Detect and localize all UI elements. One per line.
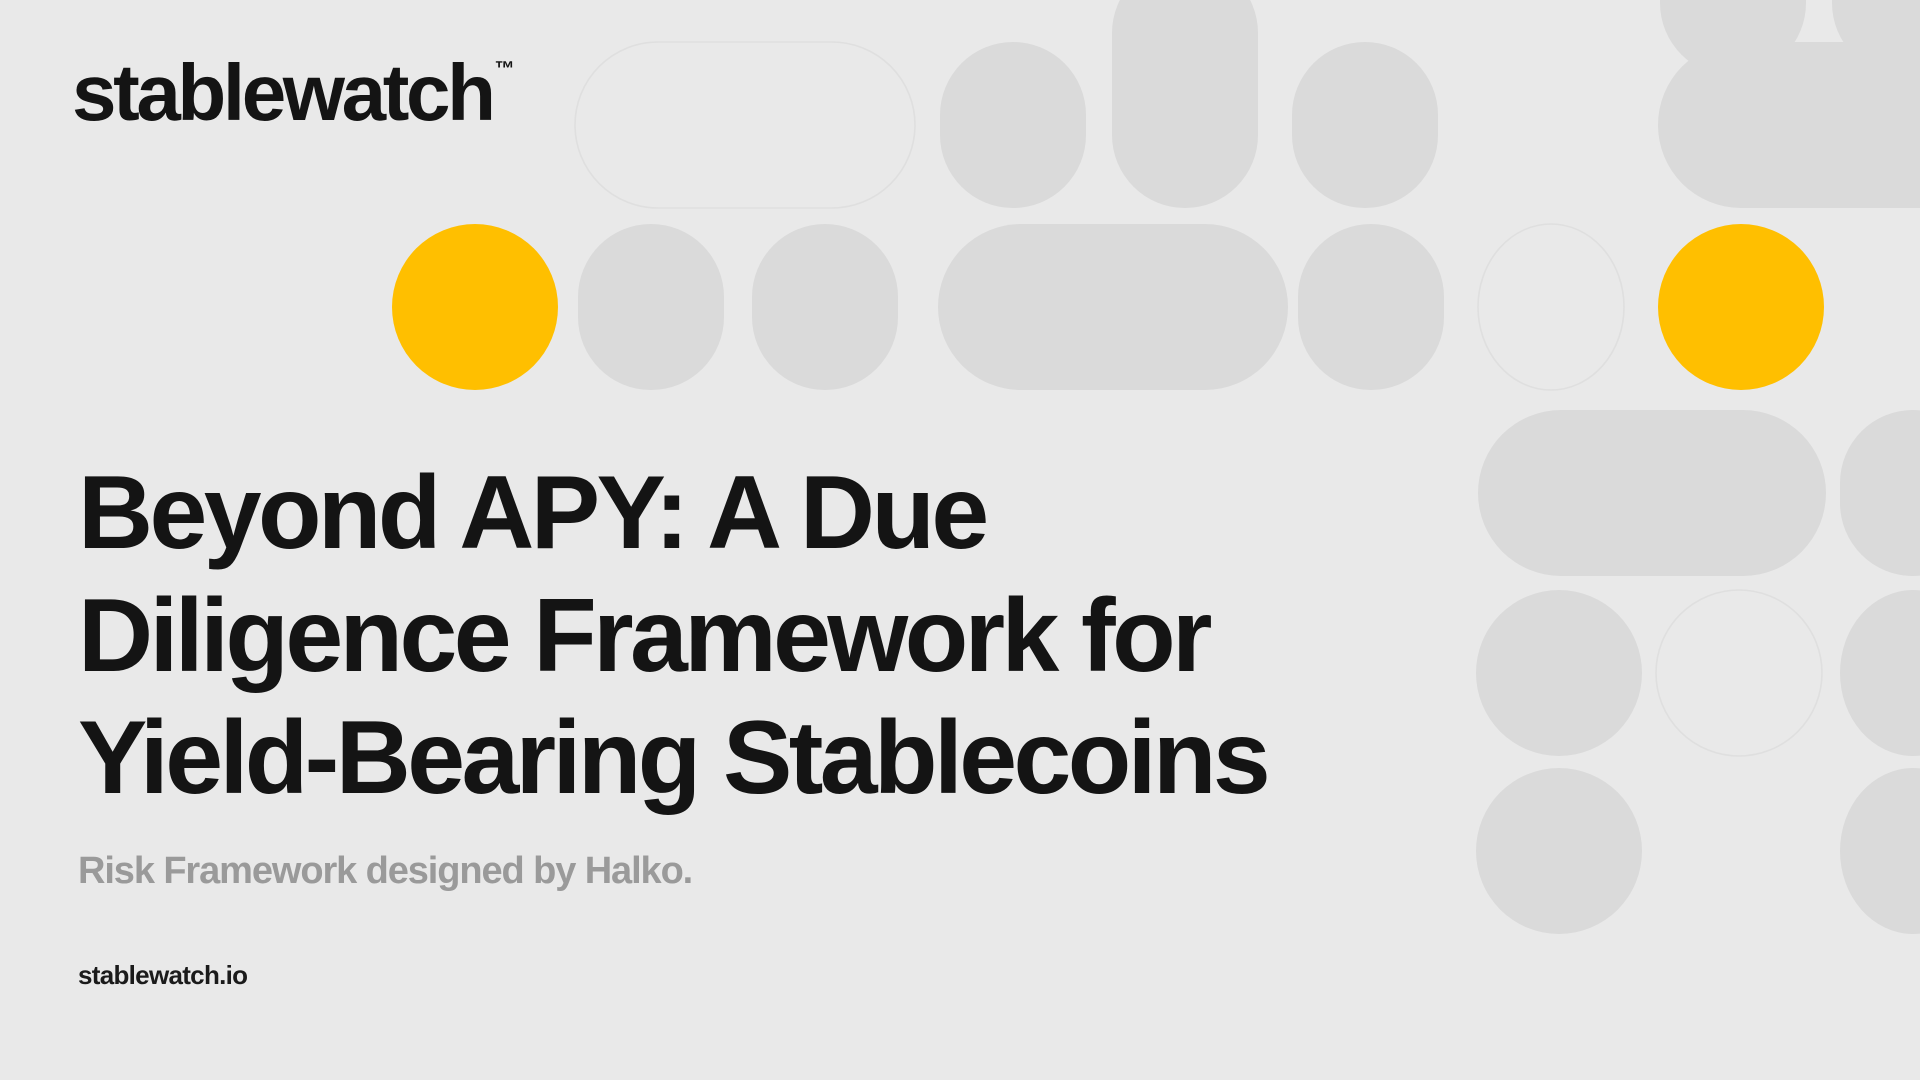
accent-circle-right [1658,224,1824,390]
circle-fill-row5-a [1476,768,1642,934]
page-title: Beyond APY: A Due Diligence Framework fo… [78,452,1498,820]
wide-capsule-right-row3 [1478,410,1826,576]
hero-subtitle: Risk Framework designed by Halko. [78,850,1498,893]
brand-wordmark: stablewatch [72,55,493,131]
circle-fill-row4-a [1476,590,1642,756]
capsule-fill-4 [578,224,724,390]
capsule-fill-1 [940,42,1086,208]
circle-outline-row4 [1656,590,1822,756]
trademark-icon: ™ [495,59,515,79]
capsule-fill-top-right-a [1660,0,1806,76]
circle-fill-row5-c [1840,768,1920,934]
pill-outline-top-left [575,42,915,208]
hero-text-block: Beyond APY: A Due Diligence Framework fo… [78,452,1498,893]
capsule-fill-tall-2 [1112,0,1258,208]
capsule-fill-6 [1298,224,1444,390]
brand-logo: stablewatch ™ [72,55,515,131]
capsule-fill-top-right-b [1832,0,1920,76]
circle-fill-row4-c [1840,590,1920,756]
capsule-fill-3 [1292,42,1438,208]
capsule-fill-5 [752,224,898,390]
accent-circle-left [392,224,558,390]
circle-outline-mid [1478,224,1624,390]
site-url-label: stablewatch.io [78,960,247,991]
wide-capsule-right-top [1658,42,1920,208]
wide-capsule-mid [938,224,1288,390]
poster-canvas: stablewatch ™ Beyond APY: A Due Diligenc… [0,0,1920,1080]
capsule-fill-row3-right [1840,410,1920,576]
